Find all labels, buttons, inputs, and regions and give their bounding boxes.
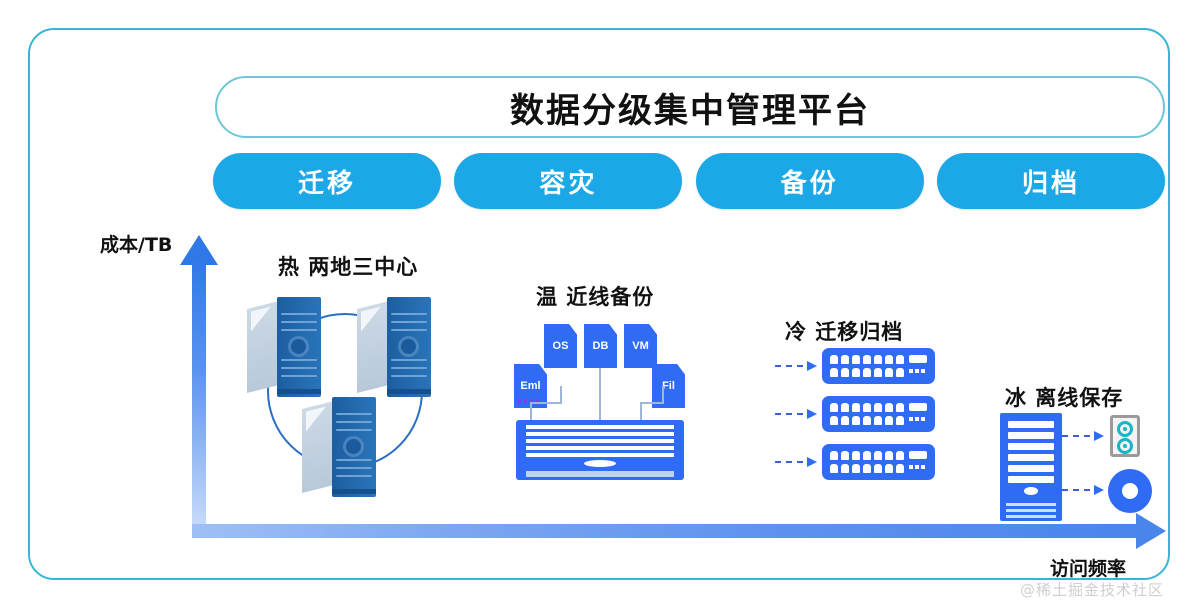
- document-label-eml: Eml: [520, 380, 540, 392]
- network-switch-icon: [822, 348, 935, 384]
- document-icon-vm: VM: [624, 324, 657, 368]
- capability-button-backup[interactable]: 备份: [696, 153, 924, 209]
- server-vent-icon: [346, 439, 361, 454]
- watermark: @稀土掘金技术社区: [1020, 579, 1164, 600]
- capability-button-row: 迁移 容灾 备份 归档: [213, 153, 1165, 209]
- x-axis-line: [192, 524, 1142, 538]
- server-tower-icon: [357, 297, 435, 397]
- server-base: [277, 389, 321, 394]
- tier-heading-warm: 温 近线备份: [536, 281, 654, 311]
- storage-array-icon: [516, 420, 684, 480]
- tier-group-cold: [775, 348, 950, 493]
- document-icon-os: OS: [544, 324, 577, 368]
- capability-button-archive[interactable]: 归档: [937, 153, 1165, 209]
- server-tower-icon: [302, 397, 380, 497]
- document-icon-db: DB: [584, 324, 617, 368]
- y-axis-line: [192, 258, 206, 538]
- capability-button-disaster-recovery[interactable]: 容灾: [454, 153, 682, 209]
- tier-heading-ice: 冰 离线保存: [1005, 382, 1123, 412]
- dashed-arrow-icon: [1062, 431, 1106, 441]
- dashed-arrow-icon: [775, 361, 819, 371]
- connector-line: [599, 368, 601, 420]
- connector-line: [640, 404, 642, 420]
- connector-line: [640, 402, 664, 404]
- tier-group-warm: OS DB VM Eml Fil: [500, 308, 700, 493]
- tier-group-hot: [235, 285, 450, 500]
- connector-line: [530, 404, 532, 420]
- tier-heading-hot: 热 两地三中心: [278, 251, 418, 281]
- array-indicator: [584, 460, 616, 467]
- dashed-arrow-icon: [775, 457, 819, 467]
- server-vent-icon: [291, 339, 306, 354]
- server-vent-icon: [401, 339, 416, 354]
- x-axis-label: 访问频率: [1050, 554, 1126, 581]
- array-base-bar: [526, 471, 674, 477]
- tier-heading-cold: 冷 迁移归档: [785, 316, 903, 346]
- dashed-arrow-icon: [775, 409, 819, 419]
- y-axis-label: 成本/TB: [100, 230, 172, 257]
- optical-disc-icon: [1108, 469, 1152, 513]
- connector-line: [530, 402, 562, 404]
- capability-button-migration[interactable]: 迁移: [213, 153, 441, 209]
- server-tower-icon: [247, 297, 325, 397]
- diagram-card: 数据分级集中管理平台 迁移 容灾 备份 归档 成本/TB 访问频率 热 两地三中…: [28, 28, 1170, 580]
- server-base: [332, 489, 376, 494]
- connector-line: [662, 386, 664, 404]
- pc-indicator: [1024, 487, 1038, 495]
- tape-cartridge-icon: [1110, 415, 1140, 457]
- tier-group-ice: [992, 413, 1152, 523]
- connector-line: [560, 386, 562, 404]
- platform-title-pill: 数据分级集中管理平台: [215, 76, 1165, 138]
- network-switch-icon: [822, 396, 935, 432]
- server-base: [387, 389, 431, 394]
- tower-pc-icon: [1000, 413, 1062, 521]
- page-title: 数据分级集中管理平台: [510, 83, 870, 132]
- dashed-arrow-icon: [1062, 485, 1106, 495]
- network-switch-icon: [822, 444, 935, 480]
